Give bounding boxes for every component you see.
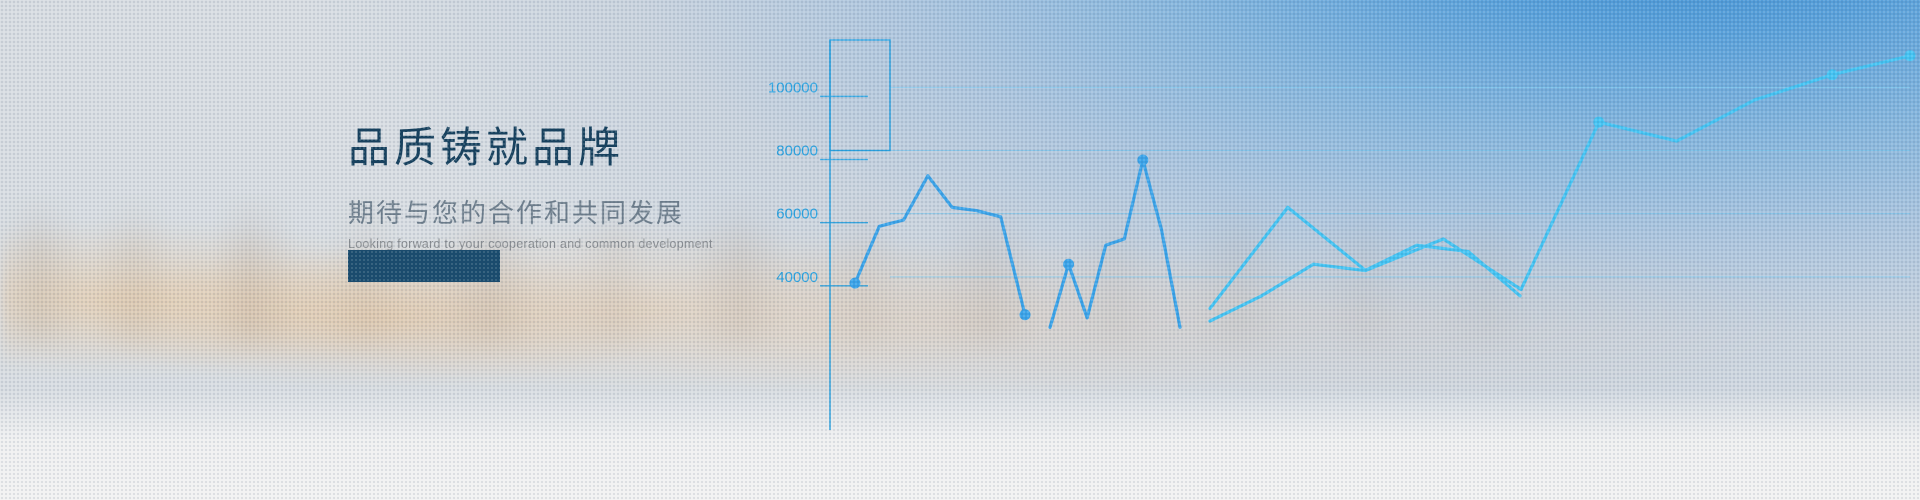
svg-text:80000: 80000	[776, 143, 818, 160]
line-chart: 100000800006000040000	[760, 0, 1920, 500]
subtitle-chinese: 期待与您的合作和共同发展	[348, 193, 828, 230]
svg-text:40000: 40000	[776, 269, 818, 286]
chart-svg: 100000800006000040000	[760, 0, 1920, 500]
subtitle-english: Looking forward to your cooperation and …	[348, 237, 828, 251]
svg-text:100000: 100000	[768, 79, 818, 96]
page-title: 品质铸就品牌	[348, 126, 828, 171]
chart-ticklabels: 100000800006000040000	[768, 79, 818, 285]
chart-gridlines	[820, 87, 1910, 285]
chart-series	[855, 56, 1910, 328]
svg-text:60000: 60000	[776, 206, 818, 223]
hero-banner: 品质铸就品牌 期待与您的合作和共同发展 Looking forward to y…	[0, 0, 1920, 500]
call-to-action-button[interactable]	[348, 250, 500, 282]
chart-axis	[830, 40, 890, 430]
banner-copy: 品质铸就品牌 期待与您的合作和共同发展 Looking forward to y…	[348, 126, 828, 251]
chart-markers	[850, 50, 1916, 320]
